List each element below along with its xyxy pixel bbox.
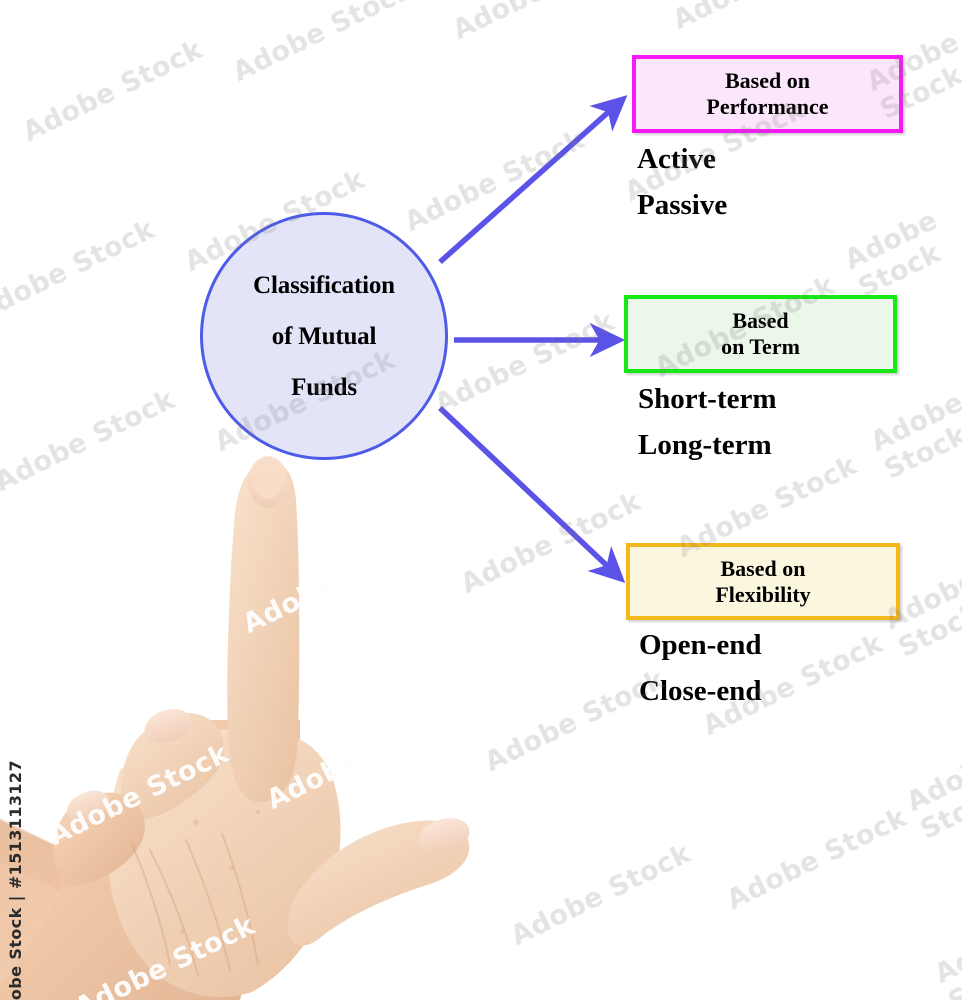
watermark-tile: Adobe Stock <box>902 747 962 846</box>
arrow-to-performance <box>440 100 622 262</box>
category-box-line-1: Based <box>732 308 788 334</box>
watermark-tile: Adobe Stock <box>44 738 234 852</box>
category-box-line-2: Flexibility <box>715 582 810 608</box>
category-box-line-1: Based on <box>721 556 806 582</box>
list-item: Short-term <box>638 385 777 414</box>
watermark-tile: Adobe Stock <box>430 306 620 420</box>
item-list-flexibility: Open-end Close-end <box>639 631 761 706</box>
list-item: Close-end <box>639 677 761 706</box>
category-box-line-2: on Term <box>721 334 800 360</box>
diagram-canvas: Classification of Mutual Funds Based on … <box>0 0 962 1000</box>
watermark-tile: Adobe Stock <box>722 802 912 916</box>
watermark-tile: Adobe Stock <box>0 384 180 498</box>
center-node-classification-of-mutual-funds[interactable]: Classification of Mutual Funds <box>200 212 448 460</box>
watermark-tile: Adobe Stock <box>228 0 418 88</box>
watermark-tile: Adobe Stock <box>288 874 478 988</box>
pointing-hand-image <box>0 420 520 1000</box>
category-box-line-1: Based on <box>725 68 810 94</box>
arrow-to-flexibility <box>440 408 620 578</box>
watermark-tile: Adobe Stock <box>930 919 962 1000</box>
watermark-side-label: Adobe Stock | #1513113127 <box>6 760 25 1000</box>
watermark-tile: Adobe Stock <box>70 910 260 1000</box>
category-box-based-on-term[interactable]: Based on Term <box>624 295 897 373</box>
watermark-tile: Adobe Stock <box>448 0 638 46</box>
list-item: Passive <box>637 191 727 220</box>
watermark-tile: Adobe Stock <box>400 124 590 238</box>
list-item: Long-term <box>638 431 777 460</box>
watermark-tile: Adobe Stock <box>238 526 428 640</box>
list-item: Open-end <box>639 631 761 660</box>
list-item: Active <box>637 145 727 174</box>
watermark-tile: Adobe Stock <box>262 702 452 816</box>
center-node-line-2: of Mutual <box>272 324 376 349</box>
connector-arrows <box>0 0 962 1000</box>
category-box-based-on-performance[interactable]: Based on Performance <box>632 55 903 133</box>
watermark-tile: Adobe Stock <box>866 387 962 486</box>
category-box-line-2: Performance <box>706 94 828 120</box>
watermark-tile: Adobe Stock <box>18 34 208 148</box>
item-list-term: Short-term Long-term <box>638 385 777 460</box>
item-list-performance: Active Passive <box>637 145 727 220</box>
watermark-tile: Adobe Stock <box>20 564 210 678</box>
watermark-tile: Adobe Stock <box>0 214 160 328</box>
watermark-tile: Adobe Stock <box>840 195 962 304</box>
center-node-line-3: Funds <box>291 375 357 400</box>
category-box-based-on-flexibility[interactable]: Based on Flexibility <box>626 543 900 620</box>
watermark-tile: Adobe Stock <box>668 0 858 36</box>
center-node-line-1: Classification <box>253 273 395 298</box>
watermark-tile: Adobe Stock <box>506 838 696 952</box>
watermark-tile: Adobe Stock <box>456 486 646 600</box>
